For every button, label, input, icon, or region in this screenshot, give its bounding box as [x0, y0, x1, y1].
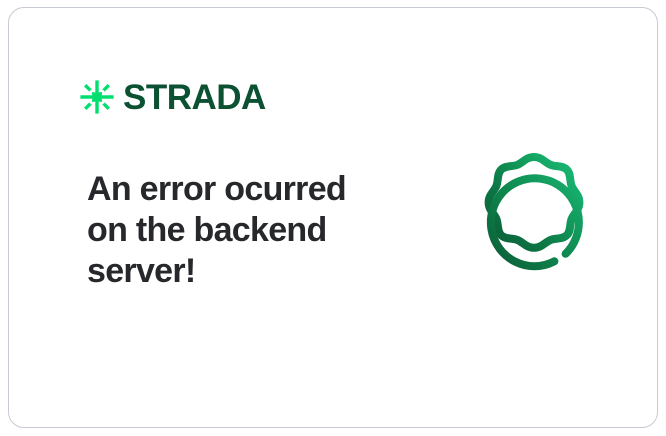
- error-screen: STRADA An error ocurred on the backend s…: [0, 0, 666, 436]
- strada-asterisk-mark-icon: [78, 78, 116, 116]
- gear-cog-icon: [455, 147, 613, 311]
- error-headline: An error ocurred on the backend server!: [87, 169, 387, 292]
- gear-inner-open-ring: [491, 178, 579, 266]
- gear-outer-ring: [489, 157, 580, 248]
- error-card: STRADA An error ocurred on the backend s…: [8, 7, 658, 428]
- brand-wordmark: STRADA: [123, 80, 266, 115]
- brand-lockup: STRADA: [78, 75, 266, 119]
